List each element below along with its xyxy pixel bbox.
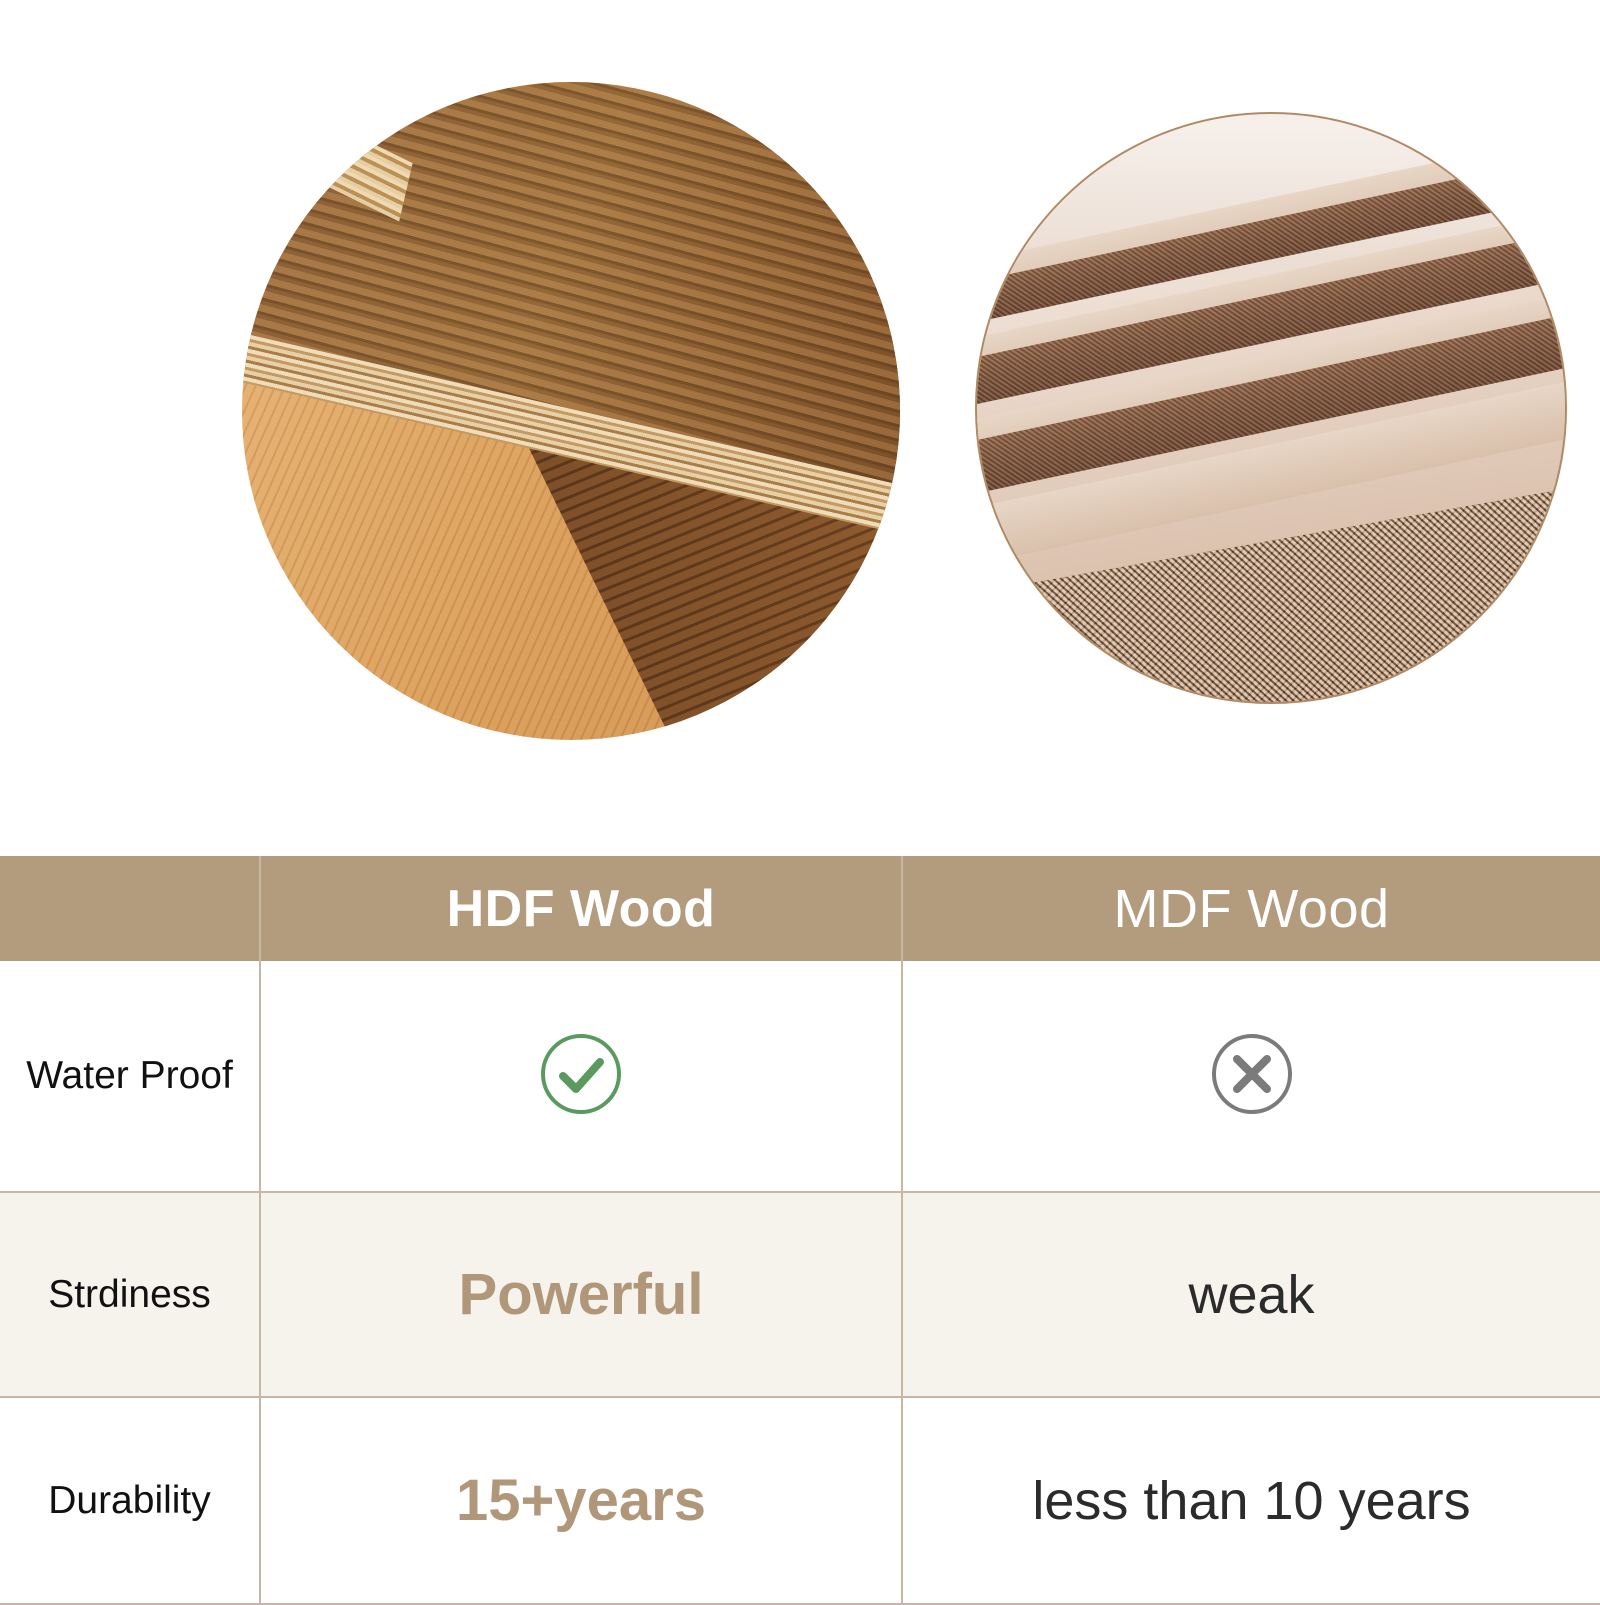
header-mdf-wood: MDF Wood [902,856,1600,961]
feature-label-durability: Durability [0,1397,260,1604]
cell-hdf-water-proof [260,961,902,1192]
header-feature-column [0,856,260,961]
table-row: Strdiness Powerful weak [0,1192,1600,1397]
feature-label-water-proof: Water Proof [0,961,260,1192]
product-image-banner [0,0,1600,856]
mdf-board-photo [975,112,1567,704]
cell-mdf-sturdiness: weak [902,1192,1600,1397]
header-hdf-wood: HDF Wood [260,856,902,961]
hdf-plywood-photo [242,82,900,740]
cell-hdf-sturdiness: Powerful [260,1192,902,1397]
table-header: HDF Wood MDF Wood [0,856,1600,961]
table-body: Water Proof Strd [0,961,1600,1604]
value-hdf-durability: 15+years [456,1468,706,1533]
feature-label-sturdiness: Strdiness [0,1192,260,1397]
cell-mdf-durability: less than 10 years [902,1397,1600,1604]
table-row: Durability 15+years less than 10 years [0,1397,1600,1604]
value-mdf-durability: less than 10 years [1032,1471,1470,1531]
hdf-vs-mdf-comparison-table: HDF Wood MDF Wood Water Proof [0,856,1600,1605]
table-header-row: HDF Wood MDF Wood [0,856,1600,961]
cell-mdf-water-proof [902,961,1600,1192]
value-mdf-sturdiness: weak [1188,1265,1314,1325]
value-hdf-sturdiness: Powerful [459,1262,704,1327]
table-row: Water Proof [0,961,1600,1192]
check-circle-icon [538,1031,624,1117]
cell-hdf-durability: 15+years [260,1397,902,1604]
cross-circle-icon [1209,1031,1295,1117]
